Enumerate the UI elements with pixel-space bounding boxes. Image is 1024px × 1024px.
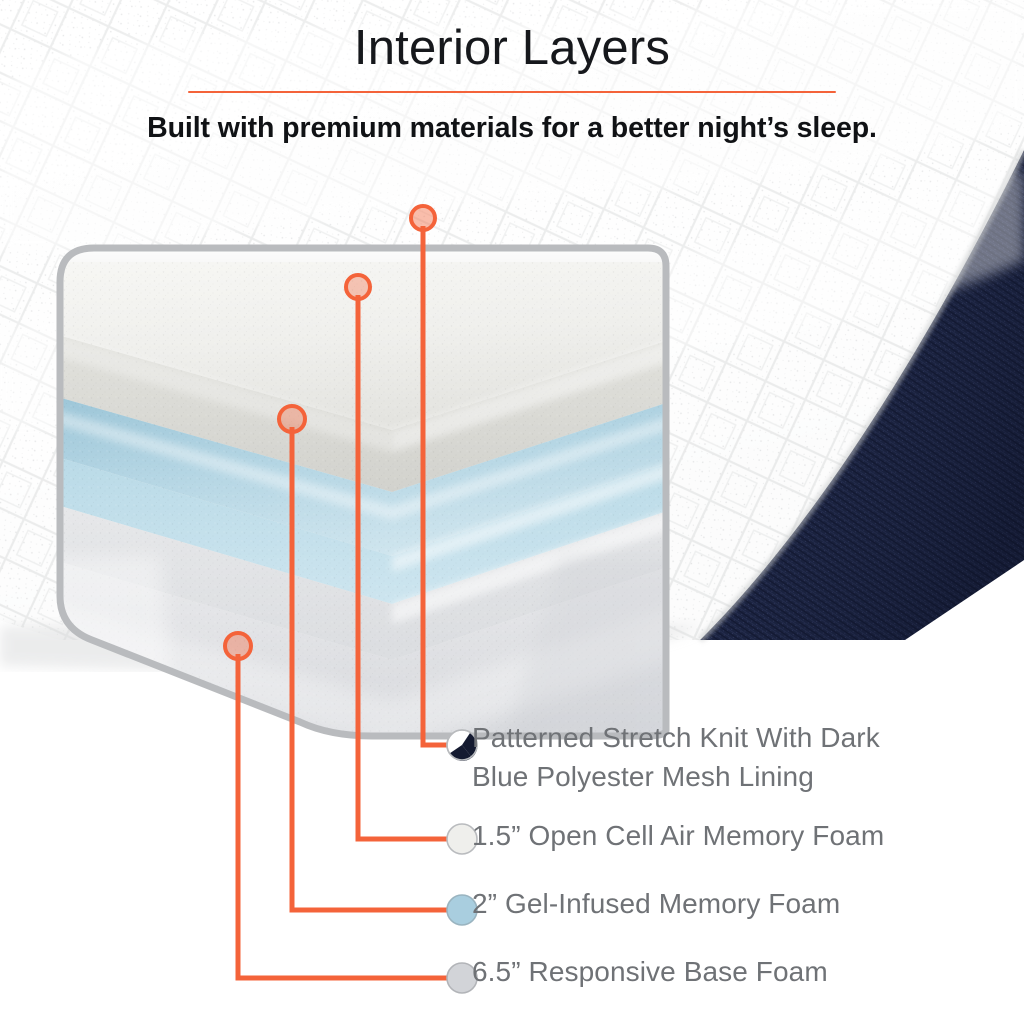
callout-dot-knit-cover[interactable] [411, 206, 435, 230]
legend-item-gel-infused[interactable]: 2” Gel-Infused Memory Foam [472, 884, 840, 924]
callout-dot-gel-infused[interactable] [279, 406, 305, 432]
page-subtitle: Built with premium materials for a bette… [0, 113, 1024, 144]
infographic-canvas: Interior Layers Built with premium mater… [0, 0, 1024, 1024]
legend-label: Patterned Stretch Knit With Dark Blue Po… [472, 718, 880, 796]
callout-dot-open-cell[interactable] [346, 275, 370, 299]
legend-label: 6.5” Responsive Base Foam [472, 952, 828, 992]
cutaway-window [40, 230, 700, 770]
header: Interior Layers Built with premium mater… [0, 0, 1024, 144]
legend-label: 2” Gel-Infused Memory Foam [472, 884, 840, 924]
title-divider [188, 91, 836, 93]
callout-dot-base-foam[interactable] [225, 633, 251, 659]
legend-label: 1.5” Open Cell Air Memory Foam [472, 816, 884, 856]
legend-item-knit-cover[interactable]: Patterned Stretch Knit With Dark Blue Po… [472, 718, 880, 796]
page-title: Interior Layers [0, 22, 1024, 75]
layer-diagram [0, 0, 1024, 1024]
legend-item-base-foam[interactable]: 6.5” Responsive Base Foam [472, 952, 828, 992]
legend-item-open-cell[interactable]: 1.5” Open Cell Air Memory Foam [472, 816, 884, 856]
